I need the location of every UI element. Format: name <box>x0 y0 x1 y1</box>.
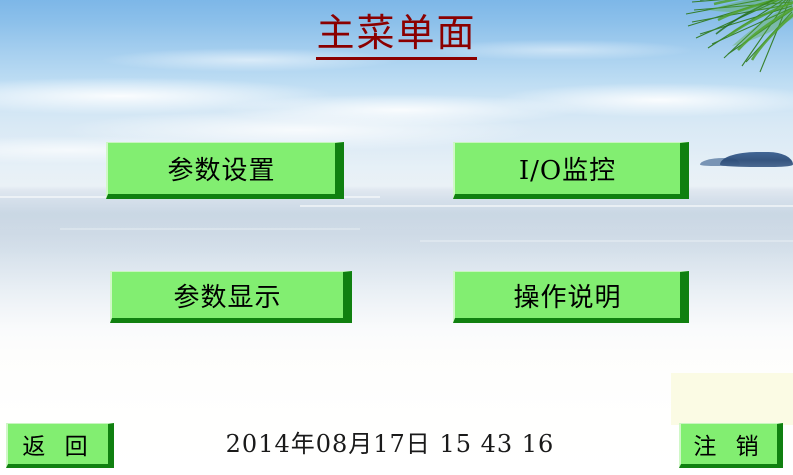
logout-button-label: 注 销 <box>693 427 764 461</box>
menu-button-label: 操作说明 <box>513 277 621 314</box>
datetime-display: 2014年08月17日 15 43 16 <box>180 425 600 463</box>
menu-button-label: I/O监控 <box>519 150 616 187</box>
logout-backdrop-panel <box>671 373 793 425</box>
return-button[interactable]: 返 回 <box>6 423 114 468</box>
menu-button-operation-instructions[interactable]: 操作说明 <box>453 271 689 323</box>
menu-button-label: 参数设置 <box>167 150 275 187</box>
menu-button-io-monitor[interactable]: I/O监控 <box>453 142 689 199</box>
return-button-label: 返 回 <box>22 427 93 461</box>
hmi-main-menu-screen: 主菜单面 参数设置 I/O监控 参数显示 操作说明 返 回 2014年08月17… <box>0 0 793 475</box>
sea-streak <box>300 205 793 207</box>
page-title: 主菜单面 <box>0 11 793 55</box>
page-title-text: 主菜单面 <box>316 11 476 60</box>
menu-button-label: 参数显示 <box>173 277 281 314</box>
logout-button[interactable]: 注 销 <box>679 423 783 468</box>
menu-button-parameter-display[interactable]: 参数显示 <box>110 271 352 323</box>
sea-streak <box>60 228 360 230</box>
sea-streak <box>420 240 793 242</box>
menu-button-parameter-settings[interactable]: 参数设置 <box>106 142 344 199</box>
